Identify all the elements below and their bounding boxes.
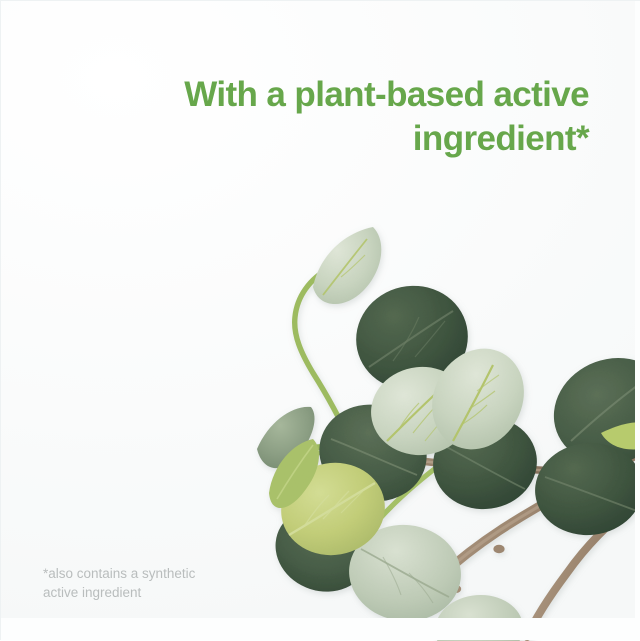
headline-text: With a plant-based active ingredient* xyxy=(119,73,589,162)
right-white-band xyxy=(635,1,640,640)
bottom-white-band xyxy=(1,618,640,640)
poster-canvas: With a plant-based active ingredient* *a… xyxy=(0,0,640,640)
footnote-text: *also contains a synthetic active ingred… xyxy=(43,564,195,602)
